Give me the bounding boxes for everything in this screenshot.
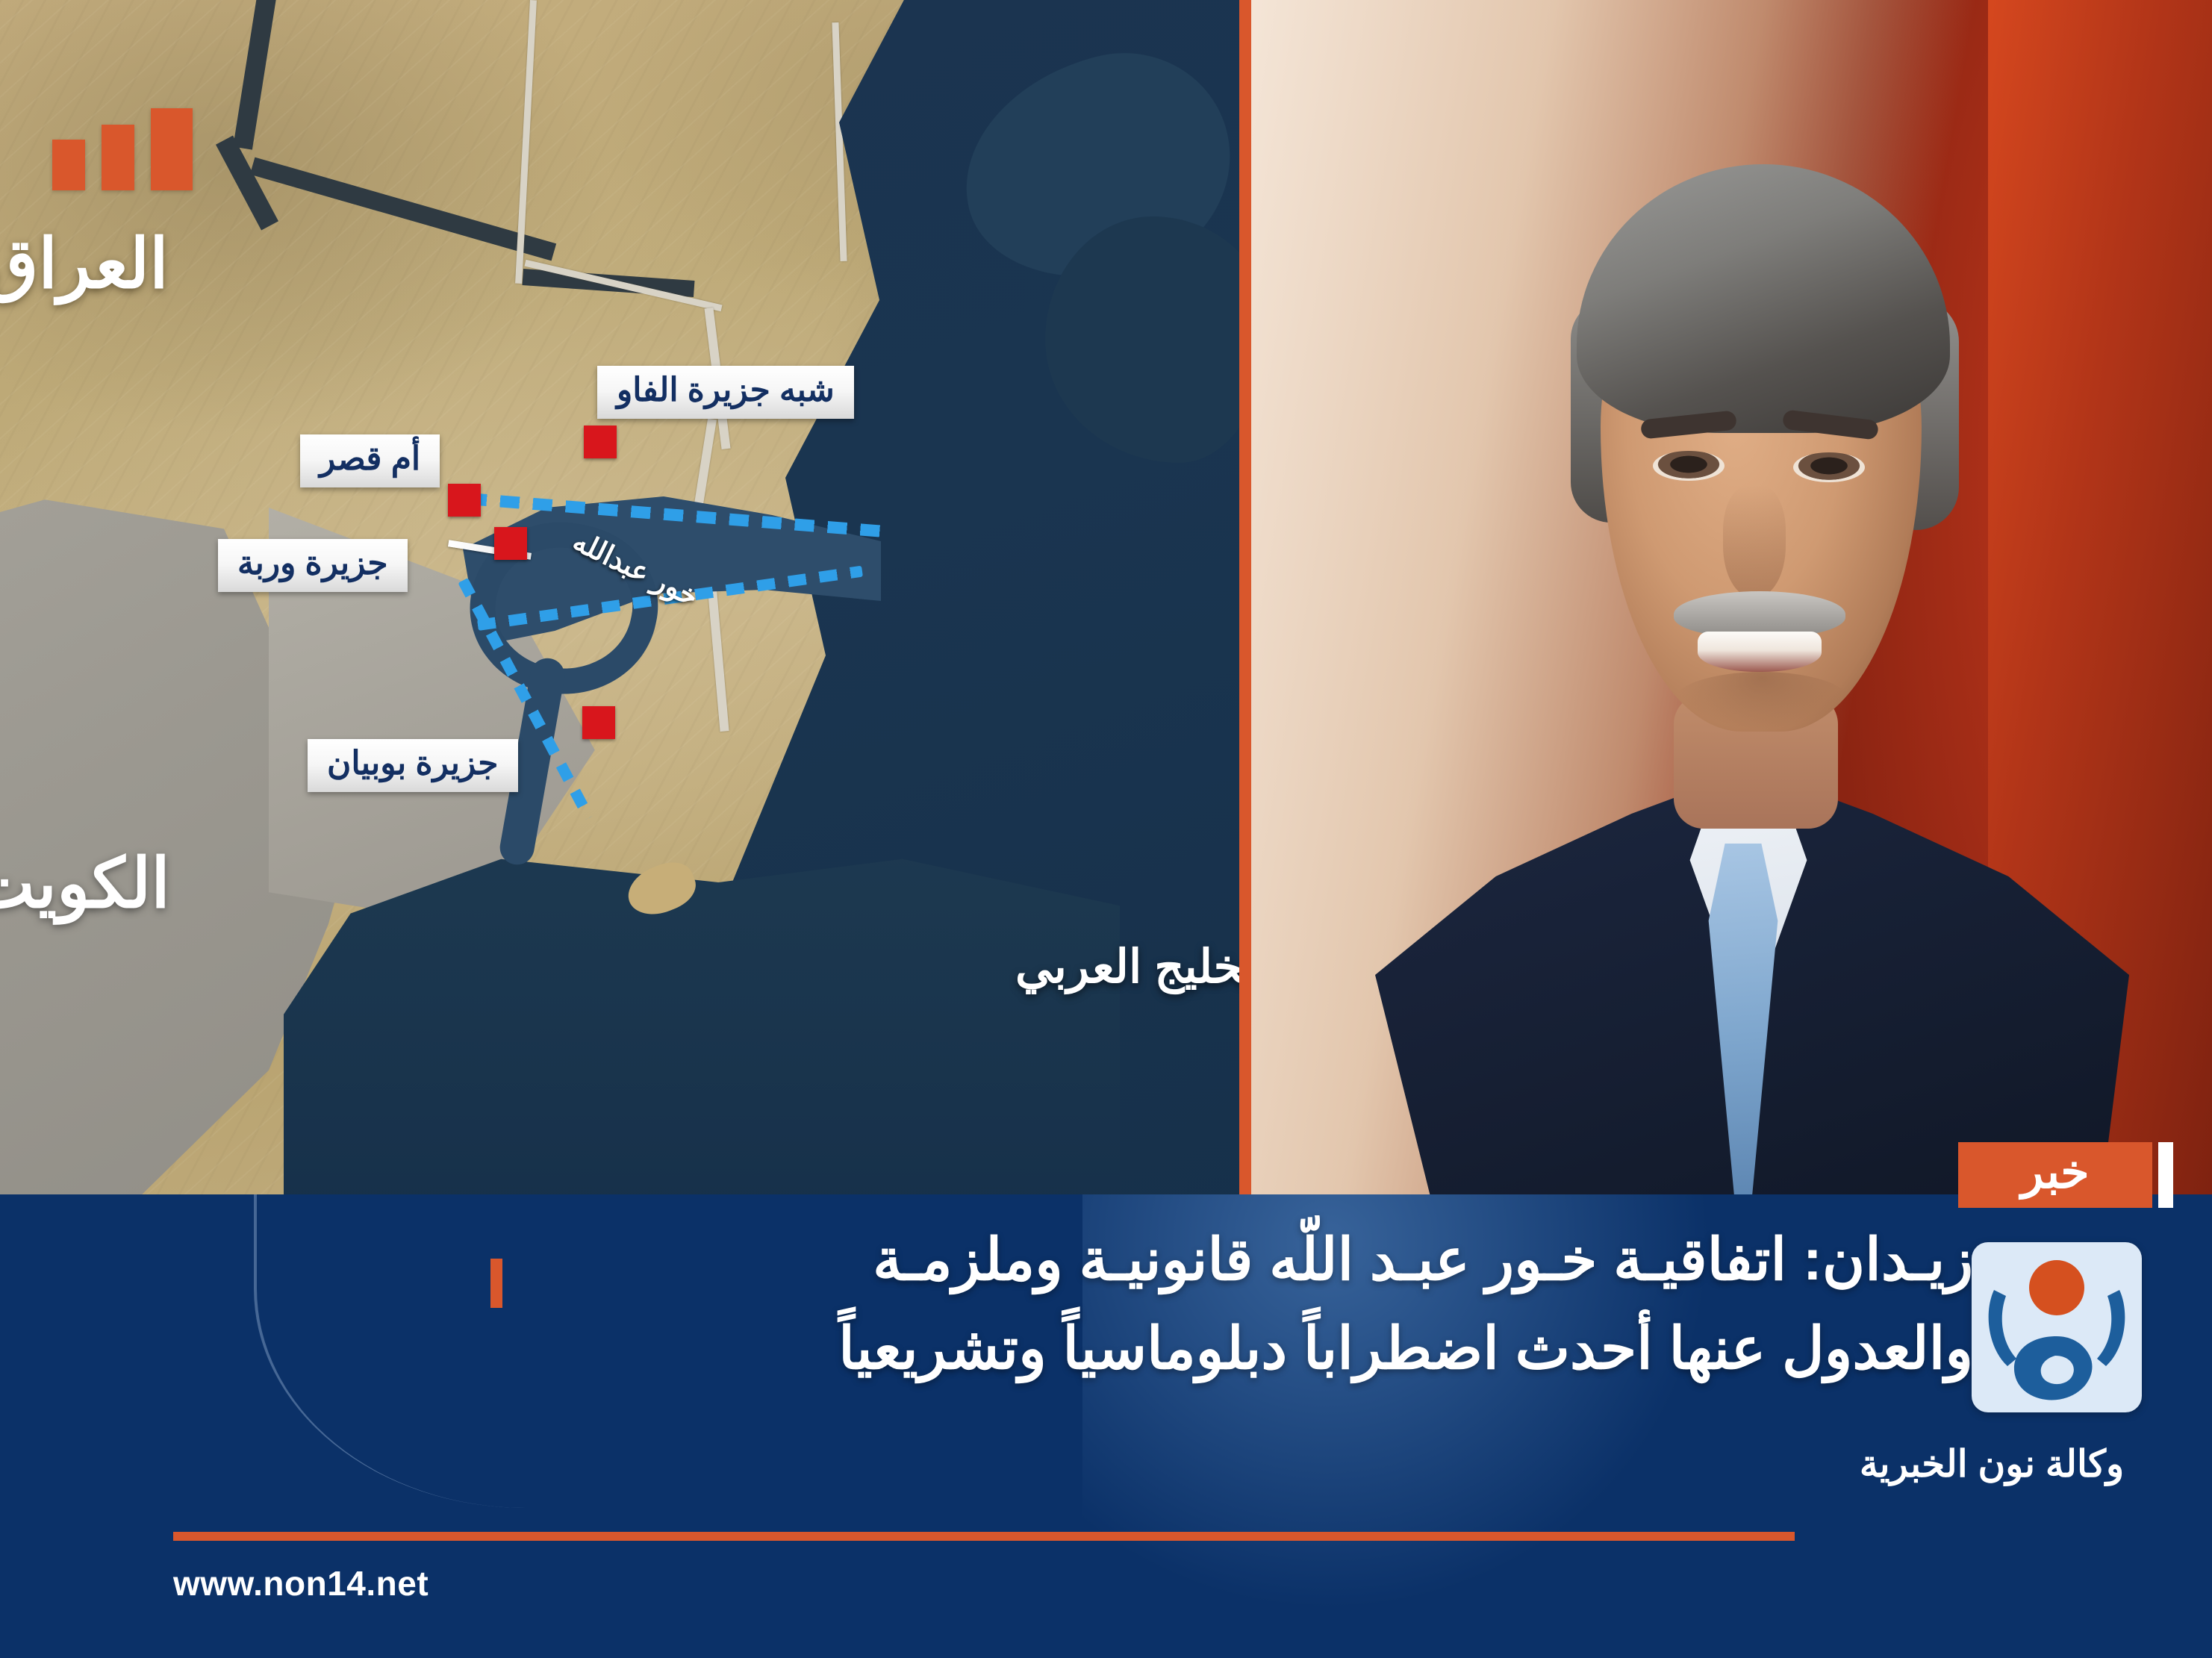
- portrait-subject: [1360, 0, 2144, 1194]
- gulf-water-south: [284, 844, 1120, 1194]
- headline-line-2: والعدول عنها أحدث اضطراباً دبلوماسياً وت…: [256, 1304, 1973, 1393]
- orange-rule: [173, 1532, 1795, 1541]
- headline: زيـدان: اتفاقيـة خـور عبـد اللّه قانونيـ…: [256, 1215, 1973, 1392]
- agency-name: وكالة نون الخبرية: [1831, 1442, 2152, 1486]
- map-marker-umm-qasr: [448, 484, 481, 517]
- eye-right: [1793, 452, 1865, 482]
- country-label-kuwait: الكويت: [0, 844, 170, 923]
- map-marker-fao: [584, 426, 617, 458]
- headline-line-1: زيـدان: اتفاقيـة خـور عبـد اللّه قانونيـ…: [256, 1215, 1973, 1304]
- agency-logo[interactable]: [1972, 1242, 2142, 1412]
- news-graphic-card: خور عبدالله العراق الكويت الخليج العربي …: [0, 0, 2212, 1658]
- map-label-fao-peninsula[interactable]: شبه جزيرة الفاو: [597, 366, 854, 419]
- mouth: [1698, 632, 1822, 672]
- brand-block: خبر وكالة نون الخبرية: [1831, 1142, 2152, 1486]
- water-body-label: الخليج العربي: [1015, 939, 1248, 994]
- logo-figure-icon: [1972, 1287, 2142, 1406]
- map-label-umm-qasr[interactable]: أم قصر: [300, 434, 440, 487]
- map-label-warbah-island[interactable]: جزيرة وربة: [218, 539, 408, 592]
- nose: [1723, 485, 1786, 597]
- country-label-iraq: العراق: [0, 224, 169, 304]
- map-marker-warbah: [494, 527, 527, 560]
- map-label-bubiyan-island[interactable]: جزيرة بوبيان: [308, 739, 518, 792]
- hair: [1577, 164, 1950, 433]
- eye-left: [1653, 451, 1725, 481]
- orange-accent-bars: [52, 108, 193, 190]
- portrait-panel: [1248, 0, 2212, 1194]
- chin-shadow: [1674, 672, 1850, 730]
- news-badge: خبر: [1958, 1142, 2152, 1208]
- site-url[interactable]: www.non14.net: [173, 1563, 429, 1604]
- map-panel: خور عبدالله العراق الكويت الخليج العربي …: [0, 0, 1248, 1194]
- panel-divider: [1239, 0, 1251, 1194]
- map-marker-bubiyan: [582, 706, 615, 739]
- mustache: [1674, 591, 1845, 638]
